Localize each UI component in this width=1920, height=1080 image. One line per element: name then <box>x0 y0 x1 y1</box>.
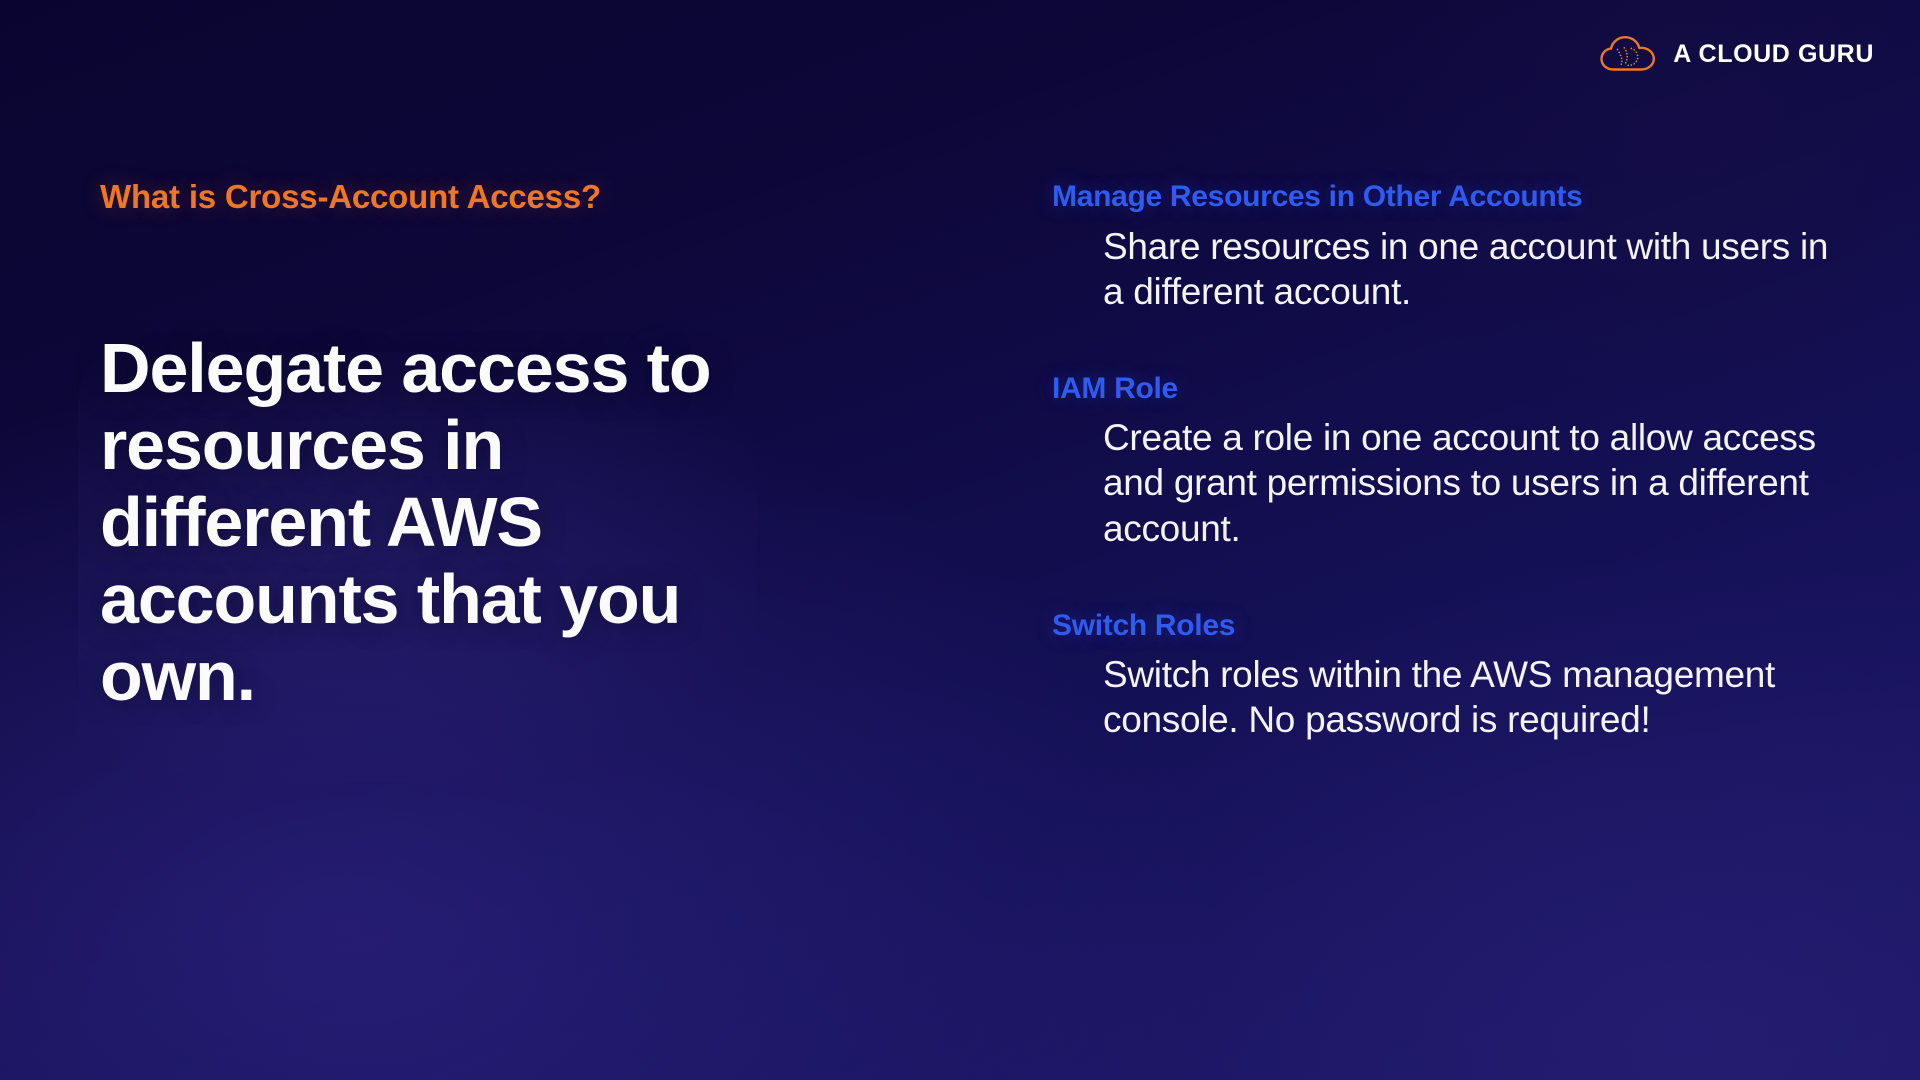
left-column: What is Cross-Account Access? Delegate a… <box>100 178 900 715</box>
point-title: IAM Role <box>1052 372 1872 407</box>
point-body: Create a role in one account to allow ac… <box>1103 415 1843 550</box>
point-item: Manage Resources in Other Accounts Share… <box>1052 180 1872 314</box>
cloud-icon <box>1599 34 1659 74</box>
brand-logo: A CLOUD GURU <box>1599 34 1874 74</box>
point-item: IAM Role Create a role in one account to… <box>1052 372 1872 551</box>
point-body: Switch roles within the AWS management c… <box>1103 652 1843 742</box>
point-title: Manage Resources in Other Accounts <box>1052 180 1872 215</box>
point-body: Share resources in one account with user… <box>1103 224 1843 314</box>
point-title: Switch Roles <box>1052 609 1872 644</box>
point-item: Switch Roles Switch roles within the AWS… <box>1052 609 1872 743</box>
brand-logo-text: A CLOUD GURU <box>1673 40 1874 69</box>
section-eyebrow: What is Cross-Account Access? <box>100 178 900 216</box>
right-column: Manage Resources in Other Accounts Share… <box>1052 180 1872 742</box>
page-title: Delegate access to resources in differen… <box>100 330 790 715</box>
slide-canvas: A CLOUD GURU What is Cross-Account Acces… <box>0 0 1920 1080</box>
